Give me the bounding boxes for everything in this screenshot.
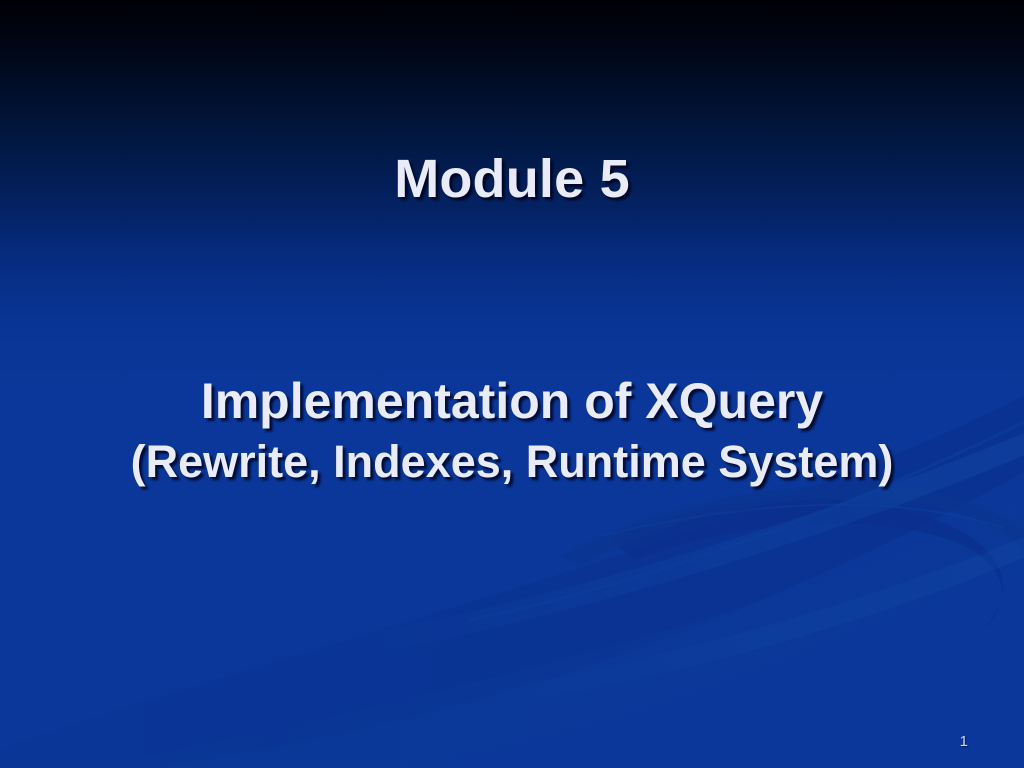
slide-subtitle: (Rewrite, Indexes, Runtime System): [0, 435, 1024, 489]
module-label: Module 5: [0, 148, 1024, 210]
swoosh-arc-inner-right: [560, 486, 1024, 632]
presentation-slide: Module 5 Implementation of XQuery (Rewri…: [0, 0, 1024, 768]
slide-number: 1: [960, 733, 968, 750]
title-block: Implementation of XQuery (Rewrite, Index…: [0, 372, 1024, 489]
slide-title: Implementation of XQuery: [0, 372, 1024, 431]
swoosh-arc-lower: [0, 482, 1024, 768]
